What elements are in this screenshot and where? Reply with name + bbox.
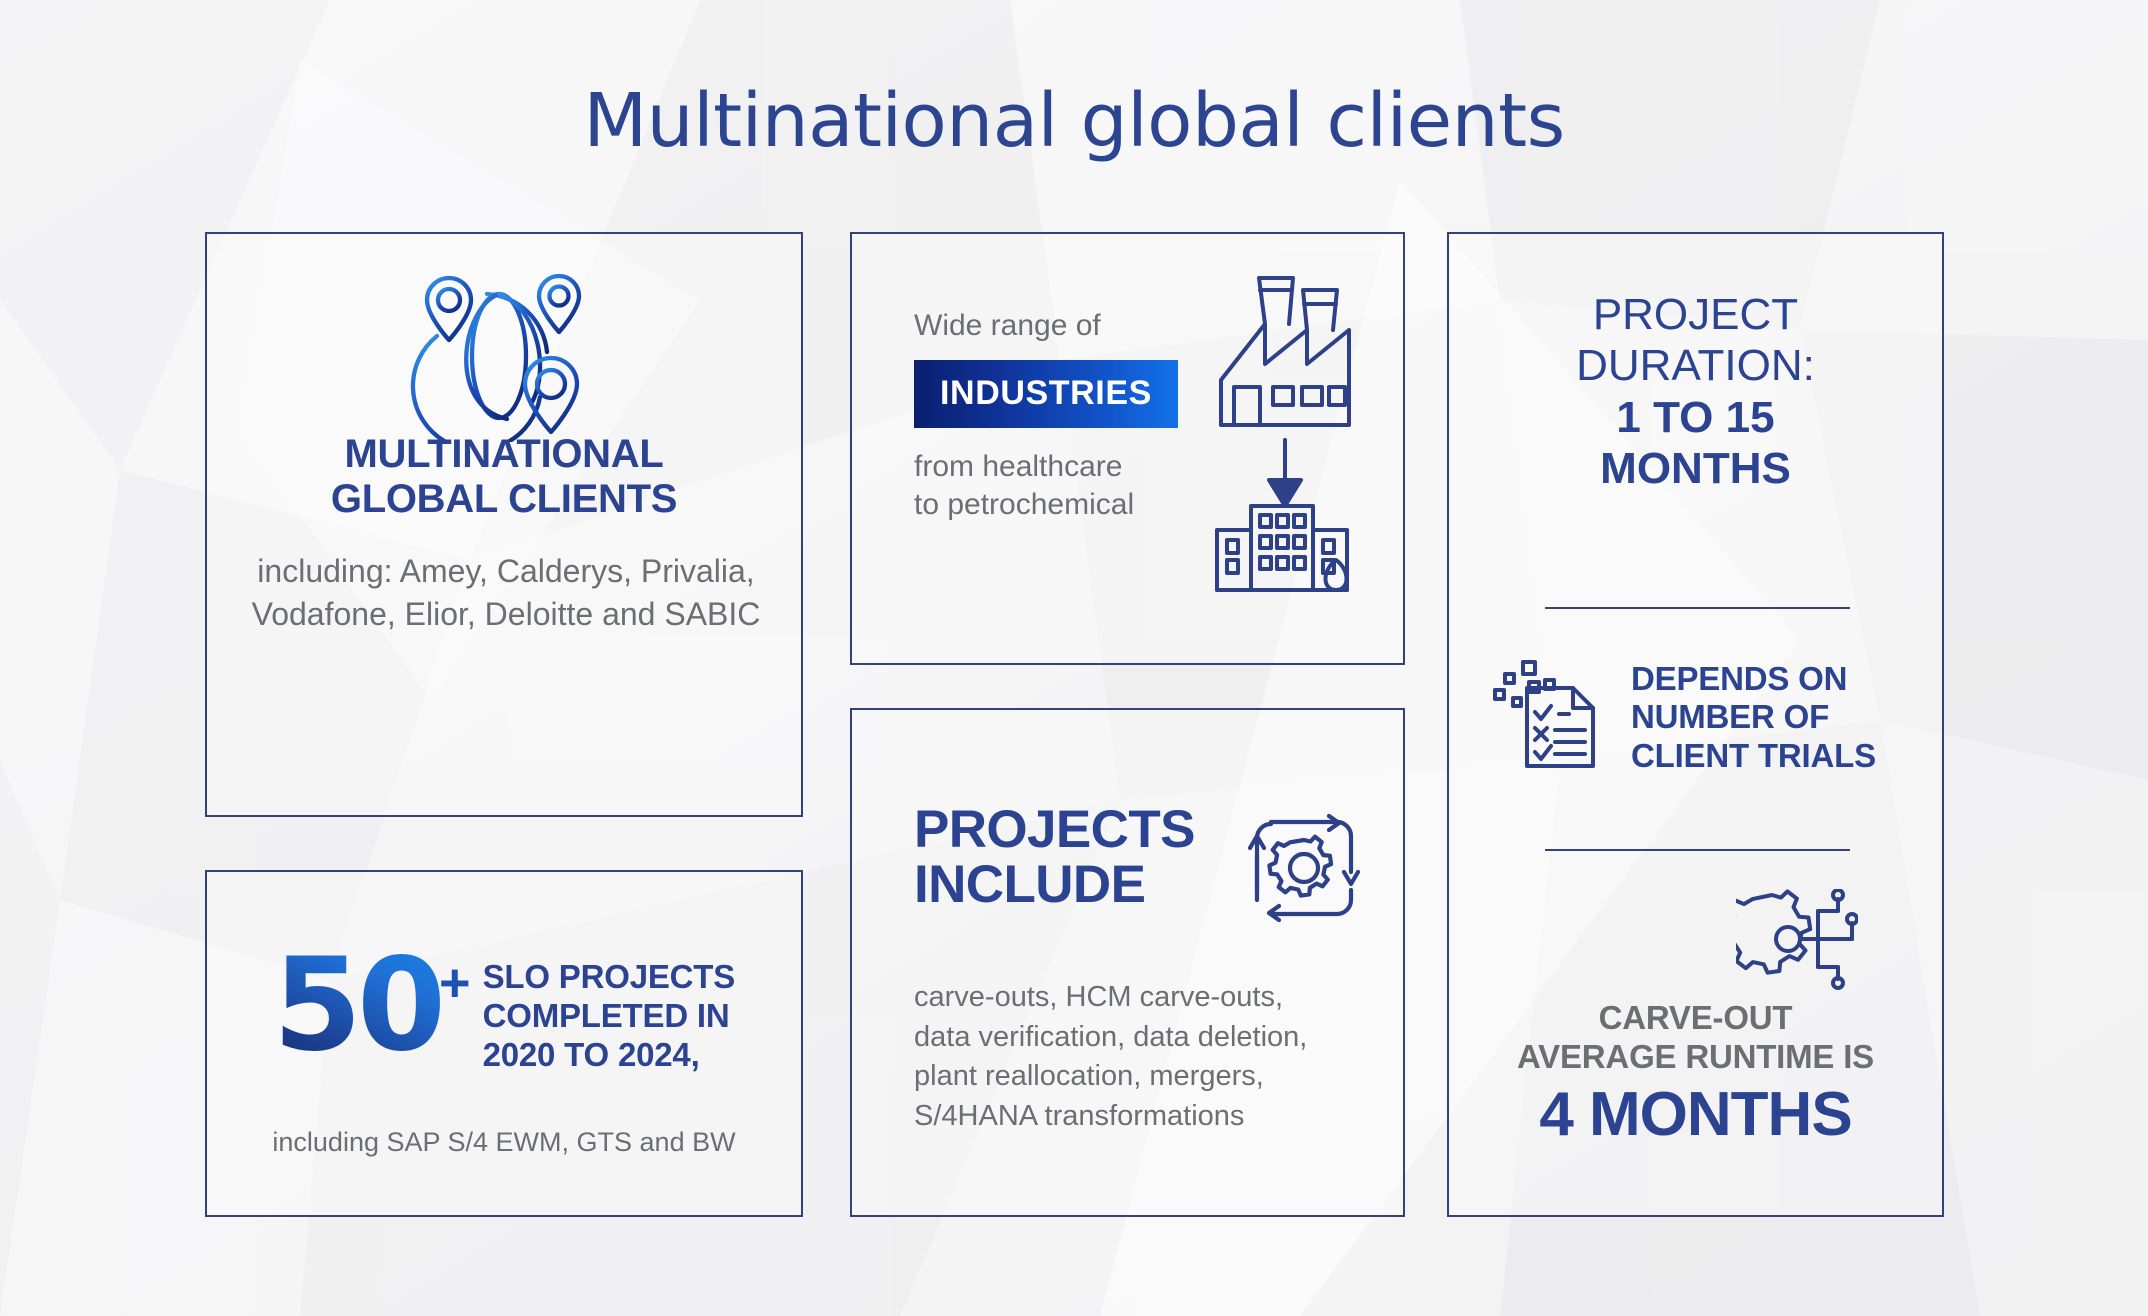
- duration-heading: PROJECT DURATION: 1 TO 15 MONTHS: [1449, 289, 1942, 495]
- projects-list-line1: carve-outs, HCM carve-outs,: [914, 978, 1384, 1018]
- page-title: Multinational global clients: [0, 78, 2148, 164]
- projects-header-row: PROJECTS INCLUDE: [914, 802, 1363, 929]
- duration-heading-line1: PROJECT: [1449, 289, 1942, 340]
- carve-out-text: CARVE-OUT AVERAGE RUNTIME IS: [1449, 999, 1942, 1076]
- gear-recycle-loop-icon: [1245, 812, 1363, 929]
- projects-heading-line2: INCLUDE: [914, 857, 1195, 912]
- projects-heading: PROJECTS INCLUDE: [914, 802, 1195, 912]
- carve-out-months: 4 MONTHS: [1449, 1079, 1942, 1150]
- client-trials-text: DEPENDS ON NUMBER OF CLIENT TRIALS: [1631, 660, 1876, 775]
- client-trials-row: DEPENDS ON NUMBER OF CLIENT TRIALS: [1493, 656, 1922, 779]
- panel-multinational-clients: MULTINATIONAL GLOBAL CLIENTS including: …: [205, 232, 803, 817]
- panel-project-count: 50 + SLO PROJECTS COMPLETED IN 2020 TO 2…: [205, 870, 803, 1217]
- project-count-number: 50: [273, 950, 441, 1063]
- projects-list-line3: plant reallocation, mergers,: [914, 1057, 1384, 1097]
- project-count-label: SLO PROJECTS COMPLETED IN 2020 TO 2024,: [483, 958, 735, 1075]
- industries-lead-text: Wide range of: [914, 308, 1214, 344]
- clipboard-checklist-icon: [1493, 656, 1611, 779]
- projects-list: carve-outs, HCM carve-outs, data verific…: [914, 978, 1384, 1137]
- project-count-subtext: including SAP S/4 EWM, GTS and BW: [207, 1127, 801, 1158]
- panel-industries: Wide range of INDUSTRIES from healthcare…: [850, 232, 1405, 665]
- project-count-label-line3: 2020 TO 2024,: [483, 1036, 735, 1075]
- duration-heading-line2: DURATION:: [1449, 340, 1942, 391]
- project-count-label-line2: COMPLETED IN: [483, 997, 735, 1036]
- industries-icon-group: [1197, 268, 1367, 603]
- projects-list-line4: S/4HANA transformations: [914, 1097, 1384, 1137]
- panel-project-duration: PROJECT DURATION: 1 TO 15 MONTHS: [1447, 232, 1944, 1217]
- client-trials-line2: NUMBER OF: [1631, 698, 1876, 736]
- projects-heading-line1: PROJECTS: [914, 802, 1195, 857]
- client-trials-line1: DEPENDS ON: [1631, 660, 1876, 698]
- projects-list-line2: data verification, data deletion,: [914, 1018, 1384, 1058]
- panel-projects-include: PROJECTS INCLUDE carve-outs, HCM carve-o…: [850, 708, 1405, 1217]
- divider-1: [1545, 607, 1850, 609]
- client-trials-line3: CLIENT TRIALS: [1631, 737, 1876, 775]
- clients-heading: MULTINATIONAL GLOBAL CLIENTS: [207, 432, 801, 522]
- industries-trail-text: from healthcare to petrochemical: [914, 448, 1214, 523]
- industries-badge: INDUSTRIES: [914, 360, 1178, 428]
- project-count-row: 50 + SLO PROJECTS COMPLETED IN 2020 TO 2…: [207, 950, 801, 1075]
- factory-icon: [1221, 278, 1349, 425]
- industries-trail-line2: to petrochemical: [914, 486, 1214, 524]
- project-count-label-line1: SLO PROJECTS: [483, 958, 735, 997]
- industries-text-block: Wide range of INDUSTRIES from healthcare…: [914, 308, 1214, 523]
- industries-trail-line1: from healthcare: [914, 448, 1214, 486]
- carve-out-line1: CARVE-OUT: [1449, 999, 1942, 1038]
- carve-out-line2: AVERAGE RUNTIME IS: [1449, 1038, 1942, 1077]
- duration-heading-line4: MONTHS: [1449, 443, 1942, 494]
- office-building-icon: [1217, 506, 1347, 590]
- down-arrow-icon: [1269, 440, 1301, 506]
- clients-heading-line1: MULTINATIONAL: [207, 432, 801, 477]
- duration-heading-line3: 1 TO 15: [1449, 392, 1942, 443]
- clients-subtext: including: Amey, Calderys, Privalia, Vod…: [241, 550, 771, 635]
- project-count-plus: +: [439, 956, 471, 1010]
- clients-heading-line2: GLOBAL CLIENTS: [207, 477, 801, 522]
- divider-2: [1545, 849, 1850, 851]
- globe-with-location-pins-icon: [207, 264, 801, 442]
- gear-circuit-icon: [1736, 889, 1858, 998]
